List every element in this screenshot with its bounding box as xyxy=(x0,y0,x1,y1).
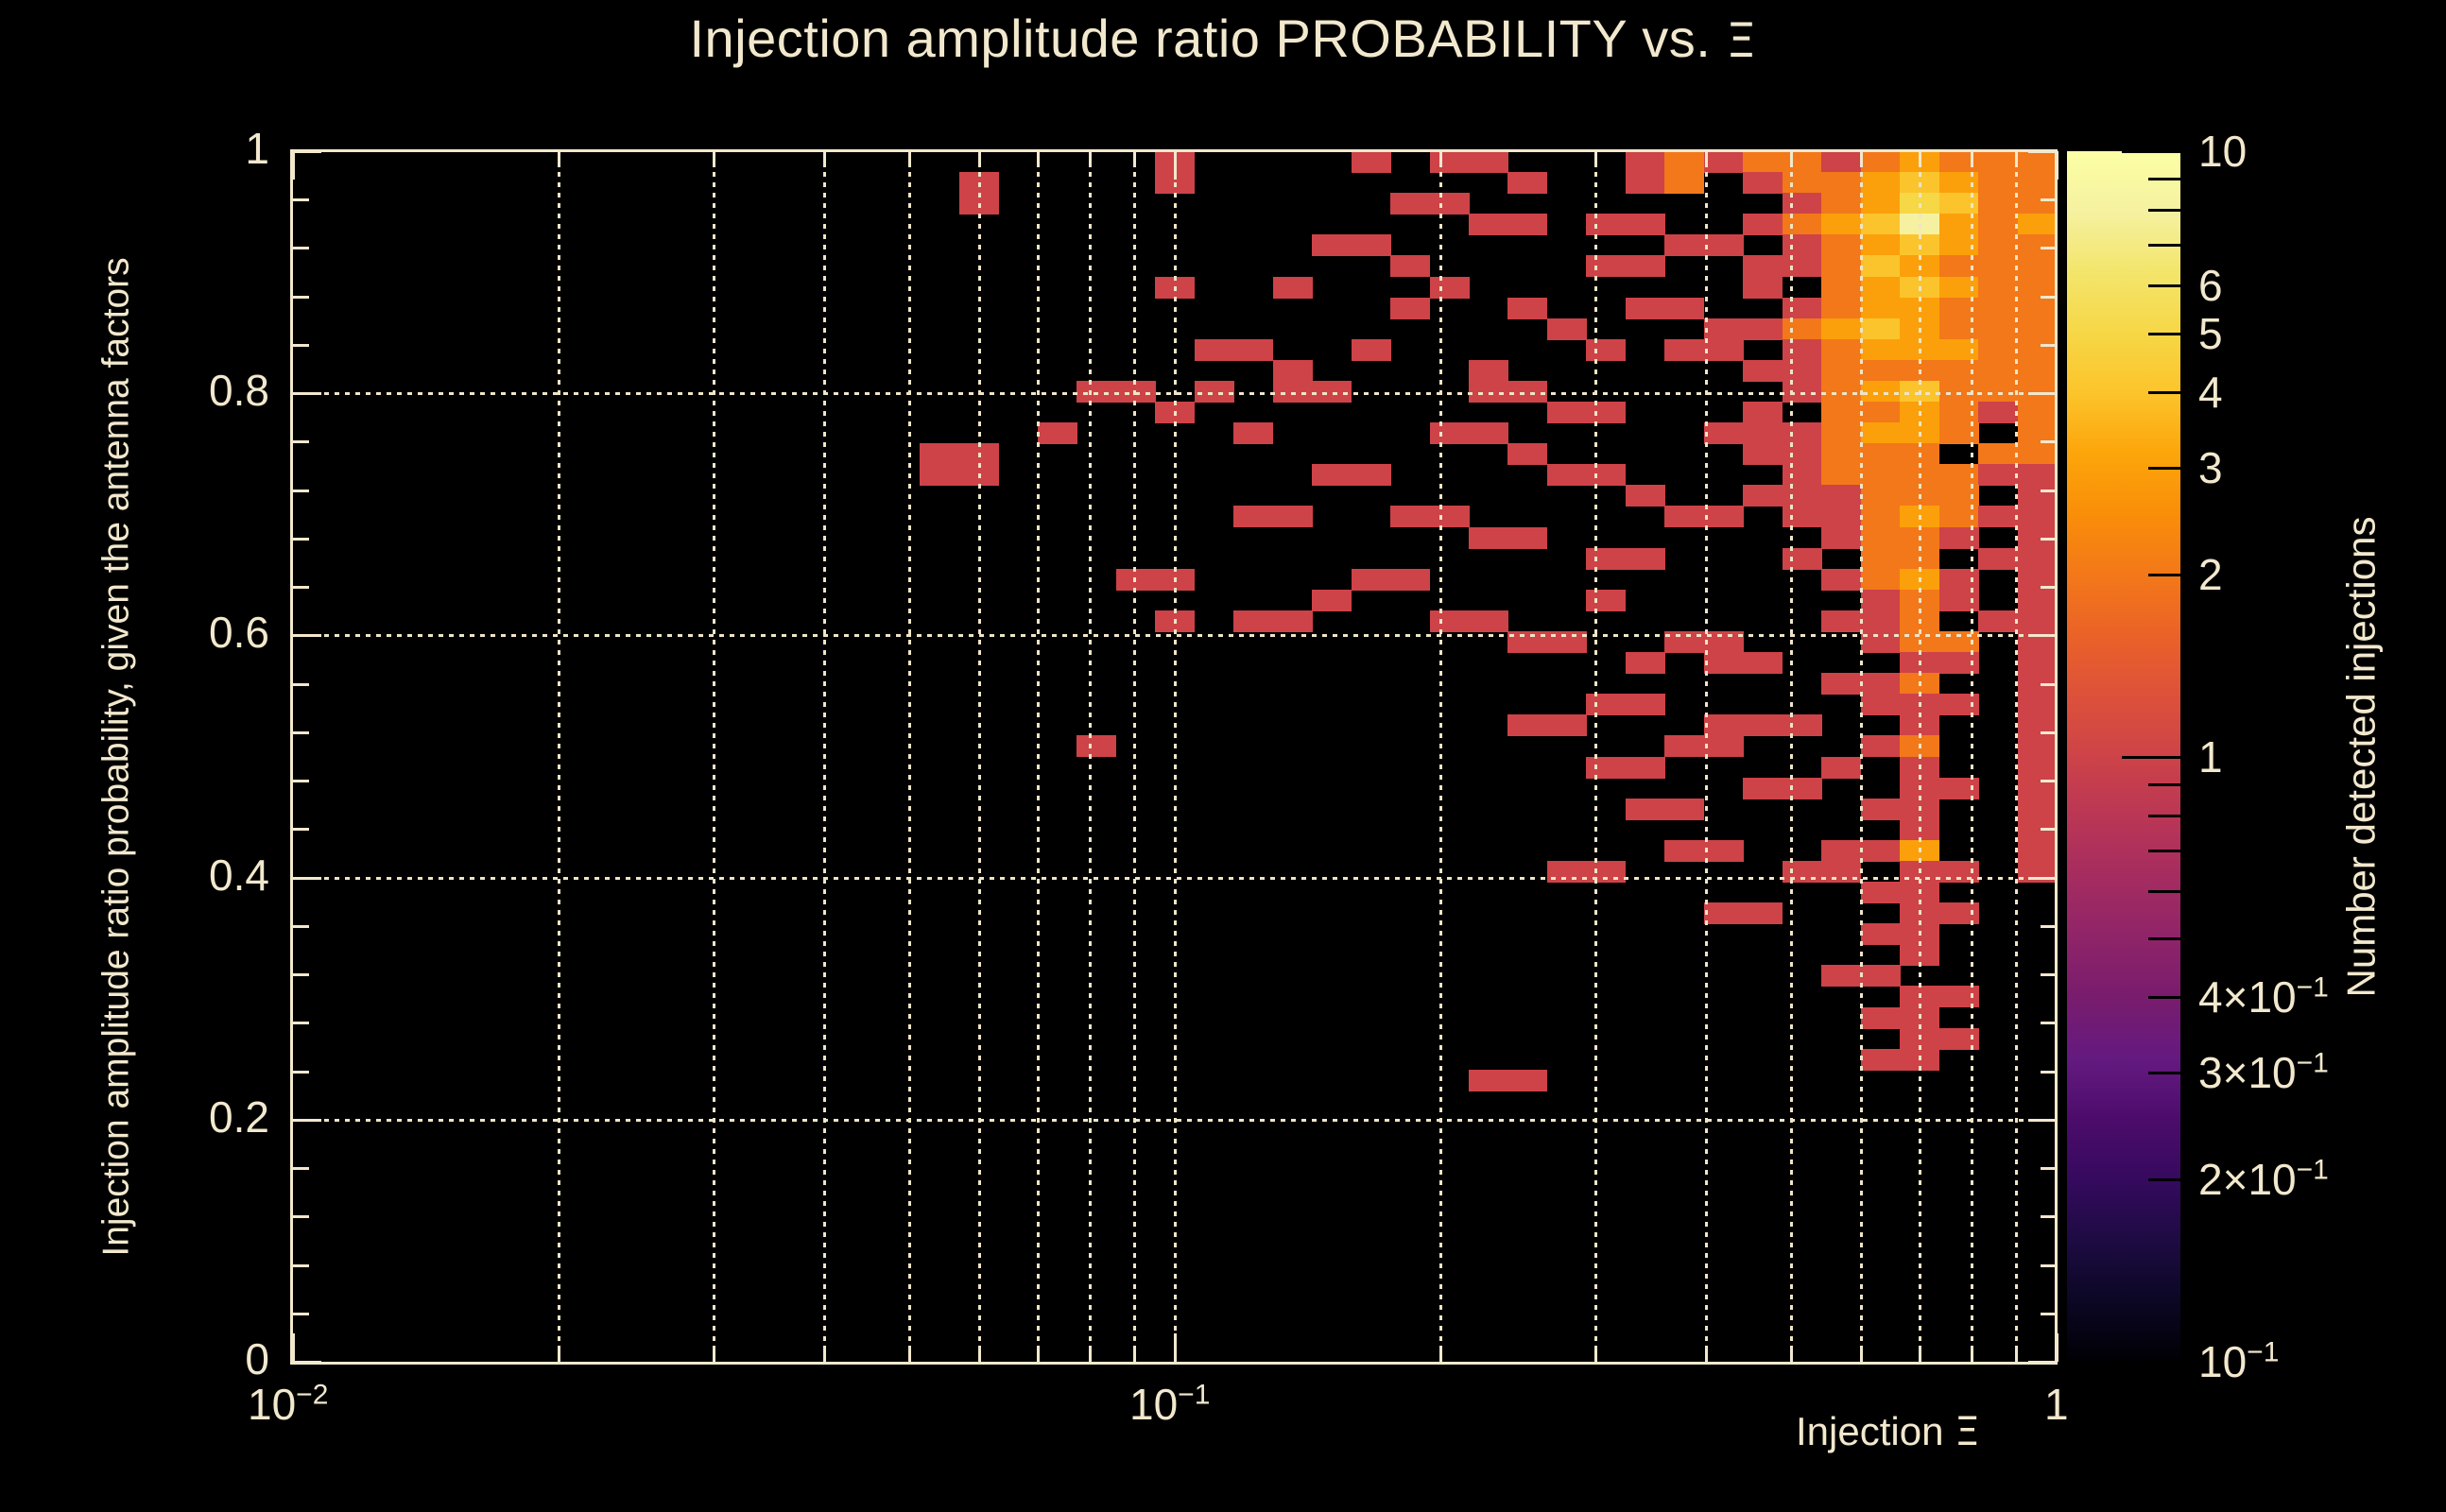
x-axis-title-text: Injection xyxy=(1796,1409,1955,1453)
heatmap-cell xyxy=(1900,1049,1939,1071)
x-tick-minor-top xyxy=(1439,151,1442,167)
heatmap-cell xyxy=(1430,277,1470,299)
heatmap-cell xyxy=(1939,569,1979,591)
x-tick-minor-top xyxy=(2015,151,2018,167)
heatmap-cell xyxy=(1900,214,1939,235)
heatmap-cell xyxy=(1939,485,1979,507)
x-tick-minor-top xyxy=(713,151,715,167)
x-tick-minor xyxy=(2015,1346,2018,1362)
heatmap-cell xyxy=(1664,339,1704,361)
y-tick-label: 0.2 xyxy=(156,1091,269,1143)
colorbar-tick-minor xyxy=(2148,284,2180,287)
heatmap-cell xyxy=(2018,735,2057,757)
heatmap-cell xyxy=(1861,590,1901,611)
x-tick-minor xyxy=(558,1346,560,1362)
heatmap-cell xyxy=(2018,214,2057,235)
heatmap-cell xyxy=(1195,339,1234,361)
heatmap-cell xyxy=(2018,360,2057,382)
y-tick-minor xyxy=(293,538,309,541)
heatmap-cell xyxy=(1900,861,1939,883)
heatmap-cell xyxy=(1312,381,1352,403)
heatmap-cell xyxy=(1743,255,1783,277)
heatmap-cell xyxy=(1939,277,1979,299)
colorbar-tick-label-base: 5 xyxy=(2198,309,2223,358)
heatmap-cell xyxy=(1861,569,1901,591)
heatmap-cell xyxy=(1390,506,1430,527)
heatmap-cell xyxy=(1900,819,1939,841)
heatmap-cell xyxy=(1273,360,1313,382)
heatmap-cell xyxy=(1704,631,1744,653)
y-tick-minor-right xyxy=(2041,1215,2057,1218)
heatmap-cell xyxy=(1743,902,1783,924)
heatmap-cell xyxy=(1821,443,1861,465)
heatmap-cell xyxy=(1783,318,1822,340)
colorbar-tick-minor xyxy=(2148,783,2180,786)
y-tick-minor xyxy=(293,440,309,443)
heatmap-cell xyxy=(1547,714,1587,736)
heatmap-cell xyxy=(1821,402,1861,423)
heatmap-cell xyxy=(1507,298,1547,319)
colorbar-tick-label-exponent: −1 xyxy=(2297,1048,2329,1079)
heatmap-cell xyxy=(1390,298,1430,319)
heatmap-cell xyxy=(1312,590,1352,611)
x-tick-major-top xyxy=(2056,151,2058,180)
heatmap-cell xyxy=(1900,652,1939,674)
heatmap-cell xyxy=(2018,548,2057,570)
chart-title: Injection amplitude ratio PROBABILITY vs… xyxy=(0,8,2446,69)
heatmap-cell xyxy=(1038,422,1077,444)
heatmap-cell xyxy=(1900,255,1939,277)
y-tick-minor-right xyxy=(2041,538,2057,541)
heatmap-cell xyxy=(1900,757,1939,779)
heatmap-cell xyxy=(1626,548,1665,570)
colorbar-tick-label-base: 1 xyxy=(2198,732,2223,782)
heatmap-cell xyxy=(1116,381,1156,403)
heatmap-cell xyxy=(1939,360,1979,382)
y-tick-minor-right xyxy=(2041,731,2057,734)
axis-frame-right xyxy=(2055,149,2058,1365)
heatmap-cell xyxy=(1273,506,1313,527)
colorbar-tick-label: 2 xyxy=(2198,549,2223,600)
heatmap-cell xyxy=(1900,402,1939,423)
heatmap-cell xyxy=(1507,214,1547,235)
heatmap-cell xyxy=(1743,652,1783,674)
colorbar-tick-minor xyxy=(2148,467,2180,470)
heatmap-cell xyxy=(1507,527,1547,549)
heatmap-cell xyxy=(1900,318,1939,340)
heatmap-cell xyxy=(1507,631,1547,653)
heatmap-cell xyxy=(2018,464,2057,486)
y-tick-minor xyxy=(293,490,309,492)
heatmap-cell xyxy=(1155,569,1195,591)
heatmap-cell xyxy=(2018,694,2057,715)
colorbar-tick-minor xyxy=(2148,209,2180,212)
heatmap-cell xyxy=(1900,882,1939,903)
x-tick-minor xyxy=(823,1346,826,1362)
heatmap-cell xyxy=(1821,965,1861,987)
colorbar-tick-minor xyxy=(2148,815,2180,817)
heatmap-cell xyxy=(1939,339,1979,361)
axis-frame-left xyxy=(290,149,293,1365)
heatmap-cell xyxy=(1586,464,1626,486)
heatmap-cell xyxy=(2018,339,2057,361)
y-tick-minor-right xyxy=(2041,247,2057,249)
heatmap-cell xyxy=(1783,443,1822,465)
heatmap-cell xyxy=(1900,193,1939,215)
heatmap-cell xyxy=(1586,694,1626,715)
heatmap-cell xyxy=(1743,778,1783,799)
heatmap-cell xyxy=(1939,255,1979,277)
y-tick-label: 0.4 xyxy=(156,850,269,901)
heatmap-cell xyxy=(2018,234,2057,256)
heatmap-cell xyxy=(1900,527,1939,549)
colorbar-tick-minor xyxy=(2148,333,2180,335)
heatmap-cell xyxy=(1430,422,1470,444)
heatmap-plot-area[interactable] xyxy=(293,151,2057,1362)
heatmap-cell xyxy=(1861,402,1901,423)
x-tick-minor-top xyxy=(978,151,981,167)
heatmap-cell xyxy=(1900,714,1939,736)
heatmap-cell xyxy=(1155,402,1195,423)
heatmap-cell xyxy=(2018,318,2057,340)
heatmap-cell xyxy=(1900,234,1939,256)
heatmap-cell xyxy=(1743,443,1783,465)
x-tick-label-base: 10 xyxy=(1129,1380,1178,1429)
colorbar-tick-label-base: 4×10 xyxy=(2198,972,2297,1022)
y-tick-minor xyxy=(293,1264,309,1267)
heatmap-cell xyxy=(1861,193,1901,215)
colorbar-tick-major xyxy=(2122,150,2180,153)
colorbar-tick-minor xyxy=(2148,996,2180,999)
heatmap-cell xyxy=(1430,610,1470,632)
y-tick-minor-right xyxy=(2041,1264,2057,1267)
colorbar-tick-label: 2×10−1 xyxy=(2198,1154,2329,1205)
heatmap-cell xyxy=(1783,172,1822,194)
colorbar-tick-minor xyxy=(2148,937,2180,940)
x-tick-minor xyxy=(1790,1346,1793,1362)
heatmap-cell xyxy=(1978,381,2018,403)
heatmap-cell xyxy=(1900,902,1939,924)
heatmap-cell xyxy=(1312,464,1352,486)
heatmap-cell xyxy=(1507,381,1547,403)
heatmap-cell xyxy=(1547,861,1587,883)
heatmap-cell xyxy=(1821,318,1861,340)
heatmap-cell xyxy=(1821,172,1861,194)
heatmap-cell xyxy=(1939,234,1979,256)
heatmap-cell xyxy=(2018,610,2057,632)
x-tick-minor-top xyxy=(1705,151,1708,167)
heatmap-cell xyxy=(1978,610,2018,632)
heatmap-cell xyxy=(1704,318,1744,340)
y-tick-minor-right xyxy=(2041,683,2057,686)
heatmap-cell xyxy=(1821,339,1861,361)
heatmap-cell xyxy=(1586,402,1626,423)
colorbar-tick-label-base: 4 xyxy=(2198,368,2223,417)
heatmap-cell xyxy=(1861,234,1901,256)
heatmap-cell xyxy=(1900,1007,1939,1029)
heatmap-cell xyxy=(1664,151,1704,173)
y-tick-major xyxy=(293,150,321,153)
heatmap-cell xyxy=(1861,923,1901,945)
y-tick-minor xyxy=(293,1215,309,1218)
heatmap-cell xyxy=(1783,548,1822,570)
heatmap-cell xyxy=(1743,172,1783,194)
y-tick-minor xyxy=(293,247,309,249)
x-axis-title: Injection Ξ xyxy=(1796,1408,1980,1454)
x-tick-label-exponent: −2 xyxy=(296,1380,328,1411)
heatmap-cell xyxy=(2018,840,2057,862)
heatmap-cell xyxy=(1861,172,1901,194)
y-tick-minor-right xyxy=(2041,780,2057,782)
y-tick-minor xyxy=(293,296,309,299)
colorbar-tick-minor xyxy=(2148,574,2180,576)
y-tick-minor-right xyxy=(2041,344,2057,347)
heatmap-cell xyxy=(1626,652,1665,674)
x-tick-minor-top xyxy=(1089,151,1092,167)
colorbar-tick-major xyxy=(2122,1361,2180,1364)
heatmap-cell xyxy=(1900,778,1939,799)
heatmap-cell xyxy=(1352,151,1391,173)
heatmap-cell xyxy=(1469,422,1508,444)
heatmap-cell xyxy=(1939,652,1979,674)
heatmap-cell xyxy=(1783,714,1822,736)
colorbar-tick-label-exponent: −1 xyxy=(2247,1337,2279,1368)
heatmap-cell xyxy=(1861,422,1901,444)
heatmap-cell xyxy=(1939,172,1979,194)
heatmap-cell xyxy=(1821,610,1861,632)
heatmap-cell xyxy=(2018,652,2057,674)
y-axis-title: Injection amplitude ratio probability, g… xyxy=(91,151,144,1362)
heatmap-cell xyxy=(1978,255,2018,277)
heatmap-cell xyxy=(1783,255,1822,277)
heatmap-cell xyxy=(1626,151,1665,173)
heatmap-cell xyxy=(959,193,999,215)
heatmap-cell xyxy=(1978,214,2018,235)
y-tick-minor xyxy=(293,973,309,976)
heatmap-cell xyxy=(1783,234,1822,256)
heatmap-cell xyxy=(1547,631,1587,653)
x-tick-label: 1 xyxy=(2044,1379,2069,1430)
x-tick-label: 10−1 xyxy=(1129,1379,1210,1430)
heatmap-cell xyxy=(1978,318,2018,340)
heatmap-cell xyxy=(1116,569,1156,591)
heatmap-cell xyxy=(1586,861,1626,883)
heatmap-cell xyxy=(1233,339,1273,361)
y-tick-major-right xyxy=(2028,392,2057,395)
heatmap-cell xyxy=(1783,214,1822,235)
x-tick-minor xyxy=(1439,1346,1442,1362)
heatmap-cell xyxy=(1978,193,2018,215)
y-tick-minor-right xyxy=(2041,198,2057,201)
heatmap-cell xyxy=(2018,590,2057,611)
xi-symbol-title: Ξ xyxy=(1726,13,1756,68)
heatmap-cell xyxy=(1507,172,1547,194)
heatmap-cell xyxy=(1704,422,1744,444)
colorbar-ticks xyxy=(2067,151,2180,1362)
x-tick-label-exponent: −1 xyxy=(1178,1380,1210,1411)
heatmap-cell xyxy=(1704,840,1744,862)
heatmap-cell xyxy=(1821,234,1861,256)
x-tick-minor xyxy=(978,1346,981,1362)
y-tick-minor-right xyxy=(2041,1313,2057,1315)
heatmap-cell xyxy=(2018,193,2057,215)
heatmap-cell xyxy=(1743,214,1783,235)
heatmap-cell xyxy=(1821,569,1861,591)
heatmap-cell xyxy=(1273,610,1313,632)
colorbar-tick-label: 4 xyxy=(2198,367,2223,418)
y-tick-minor xyxy=(293,731,309,734)
heatmap-cell xyxy=(1821,151,1861,173)
heatmap-cell xyxy=(1626,214,1665,235)
heatmap-cell xyxy=(1430,193,1470,215)
heatmap-cell xyxy=(1704,735,1744,757)
heatmap-cell xyxy=(1939,464,1979,486)
y-tick-label: 0.6 xyxy=(156,607,269,658)
heatmap-cell xyxy=(1155,610,1195,632)
heatmap-cell xyxy=(1743,402,1783,423)
heatmap-cell xyxy=(1821,485,1861,507)
heatmap-cell xyxy=(1352,339,1391,361)
heatmap-cell xyxy=(1939,527,1979,549)
heatmap-cell xyxy=(1783,861,1822,883)
heatmap-cell xyxy=(1626,757,1665,779)
heatmap-cell xyxy=(1664,840,1704,862)
heatmap-cell xyxy=(1390,569,1430,591)
heatmap-cell xyxy=(1352,464,1391,486)
heatmap-cell xyxy=(1939,778,1979,799)
heatmap-cell xyxy=(2018,443,2057,465)
heatmap-cell xyxy=(1273,277,1313,299)
heatmap-cell xyxy=(1507,714,1547,736)
heatmap-cell xyxy=(1821,527,1861,549)
heatmap-cell xyxy=(1939,214,1979,235)
heatmap-cell xyxy=(1664,234,1704,256)
heatmap-cell xyxy=(1233,506,1273,527)
heatmap-cell xyxy=(1743,714,1783,736)
heatmap-cell xyxy=(1978,402,2018,423)
heatmap-cell xyxy=(920,443,959,465)
heatmap-cell xyxy=(1939,1028,1979,1050)
colorbar[interactable] xyxy=(2067,151,2180,1362)
heatmap-cell xyxy=(1547,318,1587,340)
heatmap-cell xyxy=(1507,443,1547,465)
heatmap-cell xyxy=(1861,339,1901,361)
heatmap-cell xyxy=(1900,631,1939,653)
heatmap-cell xyxy=(1900,923,1939,945)
colorbar-tick-label-base: 2 xyxy=(2198,550,2223,599)
heatmap-cell xyxy=(1664,735,1704,757)
heatmap-cell xyxy=(1861,151,1901,173)
axis-frame-bottom xyxy=(290,1362,2058,1365)
x-tick-label-base: 1 xyxy=(2044,1380,2069,1429)
y-tick-minor xyxy=(293,925,309,928)
x-tick-minor-top xyxy=(1133,151,1136,167)
heatmap-cell xyxy=(1704,652,1744,674)
y-tick-minor xyxy=(293,683,309,686)
heatmap-cell xyxy=(1861,443,1901,465)
heatmap-cell xyxy=(1273,381,1313,403)
heatmap-cell xyxy=(1900,840,1939,862)
heatmap-cell xyxy=(1861,298,1901,319)
heatmap-cell xyxy=(1469,1070,1508,1091)
heatmap-cell xyxy=(1939,631,1979,653)
colorbar-tick-minor xyxy=(2148,850,2180,852)
heatmap-cell xyxy=(1900,298,1939,319)
x-tick-minor xyxy=(1133,1346,1136,1362)
heatmap-cell xyxy=(1821,861,1861,883)
heatmap-cell xyxy=(1233,610,1273,632)
colorbar-tick-label: 10 xyxy=(2198,126,2247,177)
heatmap-cell xyxy=(1900,360,1939,382)
heatmap-cell xyxy=(1783,339,1822,361)
heatmap-cell xyxy=(1821,464,1861,486)
heatmap-cell xyxy=(1861,277,1901,299)
heatmap-cell xyxy=(1939,902,1979,924)
heatmap-cell xyxy=(1664,298,1704,319)
x-tick-minor xyxy=(1860,1346,1863,1362)
heatmap-cell xyxy=(1469,527,1508,549)
heatmap-cell xyxy=(1586,214,1626,235)
heatmap-cell xyxy=(1783,193,1822,215)
heatmap-cell xyxy=(2018,402,2057,423)
y-tick-major-right xyxy=(2028,1361,2057,1364)
heatmap-cell xyxy=(1077,381,1116,403)
heatmap-cell xyxy=(1704,506,1744,527)
y-tick-major-right xyxy=(2028,1119,2057,1122)
heatmap-cell xyxy=(1233,422,1273,444)
heatmap-cell xyxy=(1900,381,1939,403)
heatmap-cell xyxy=(1900,339,1939,361)
heatmap-cell xyxy=(1900,590,1939,611)
heatmap-cell xyxy=(1704,714,1744,736)
x-tick-major-top xyxy=(292,151,295,180)
y-tick-minor xyxy=(293,1071,309,1074)
y-tick-minor-right xyxy=(2041,1022,2057,1024)
y-tick-major xyxy=(293,392,321,395)
heatmap-cell xyxy=(1861,882,1901,903)
y-tick-label: 0 xyxy=(156,1333,269,1384)
heatmap-cell xyxy=(1195,381,1234,403)
heatmap-cell xyxy=(1469,381,1508,403)
x-tick-label: 10−2 xyxy=(248,1379,328,1430)
colorbar-tick-minor xyxy=(2148,391,2180,394)
x-tick-minor-top xyxy=(1919,151,1921,167)
heatmap-cell xyxy=(1743,151,1783,173)
heatmap-cell xyxy=(920,464,959,486)
x-tick-minor xyxy=(1037,1346,1040,1362)
y-tick-major xyxy=(293,1361,321,1364)
heatmap-cell xyxy=(2018,151,2057,173)
heatmap-cell xyxy=(1783,151,1822,173)
heatmap-cell xyxy=(1821,673,1861,695)
heatmap-cell xyxy=(1900,694,1939,715)
heatmap-cell xyxy=(1861,1007,1901,1029)
heatmap-cell xyxy=(1586,548,1626,570)
y-axis-title-text: Injection amplitude ratio probability, g… xyxy=(96,257,138,1256)
heatmap-cell xyxy=(1900,172,1939,194)
heatmap-cell xyxy=(1469,214,1508,235)
heatmap-cell xyxy=(2018,255,2057,277)
heatmap-cell xyxy=(1783,381,1822,403)
heatmap-cell xyxy=(1821,381,1861,403)
x-tick-major xyxy=(1174,1333,1177,1362)
y-tick-minor-right xyxy=(2041,973,2057,976)
heatmap-cell xyxy=(1900,548,1939,570)
y-tick-minor-right xyxy=(2041,1167,2057,1170)
x-tick-minor-top xyxy=(558,151,560,167)
y-tick-minor-right xyxy=(2041,925,2057,928)
y-tick-minor xyxy=(293,586,309,589)
